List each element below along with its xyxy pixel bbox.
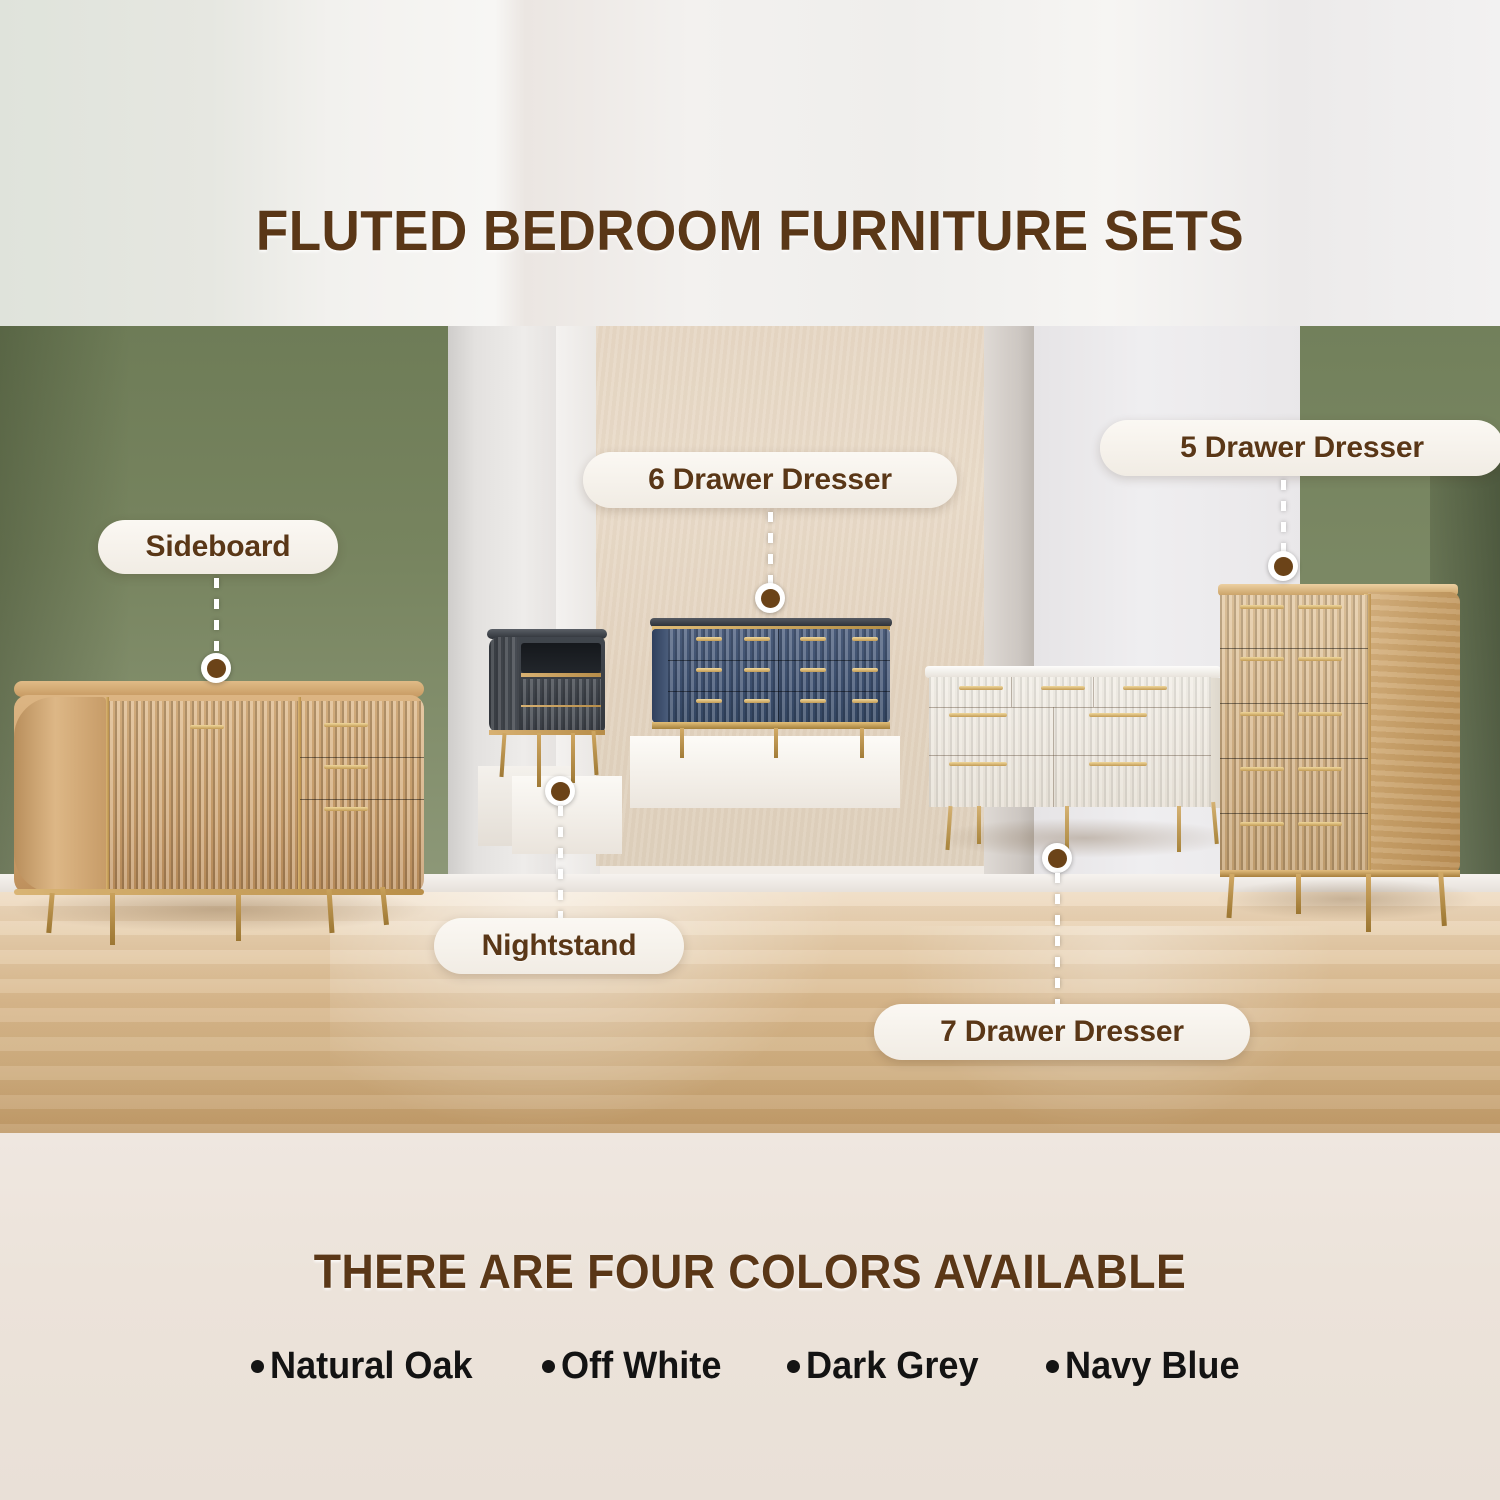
nightstand-leg-2 — [537, 733, 541, 787]
tallchest-seam-3 — [1220, 758, 1368, 759]
nightstand-drawer-1 — [521, 679, 601, 705]
callout-pill-sideboard[interactable]: Sideboard — [98, 520, 338, 574]
tallchest-handle-3a — [1240, 712, 1284, 716]
navy-handle-5 — [696, 668, 722, 672]
sideboard-body — [14, 695, 424, 895]
tallchest-handle-4b — [1298, 767, 1342, 771]
sideboard-curved-door — [14, 697, 106, 893]
sideboard-handle-2 — [324, 765, 368, 769]
sideboard-leg-2 — [110, 893, 115, 945]
furniture-five-drawer-chest — [1218, 584, 1468, 914]
color-option-navy-blue: Navy Blue — [1046, 1345, 1249, 1388]
header-band: FLUTED BEDROOM FURNITURE SETS — [0, 0, 1500, 326]
nightstand-side-panel — [489, 637, 519, 733]
offwhite-seam-v3 — [1053, 707, 1054, 807]
offwhite-handle-4 — [949, 713, 1007, 717]
navy-flute-texture — [668, 629, 890, 723]
offwhite-flute-texture — [929, 677, 1211, 807]
nightstand-drawer-2 — [521, 707, 601, 731]
footer-title: THERE ARE FOUR COLORS AVAILABLE — [53, 1245, 1448, 1300]
tallchest-leg-2 — [1296, 874, 1301, 914]
navy-leg-3 — [860, 728, 864, 758]
navy-handle-4 — [852, 637, 878, 641]
tallchest-handle-5b — [1298, 822, 1342, 826]
sideboard-divider-1 — [106, 697, 109, 893]
nightstand-leg-1 — [499, 733, 506, 777]
color-option-label: Off White — [561, 1345, 721, 1388]
sideboard-leg-3 — [236, 893, 241, 941]
tallchest-base-trim — [1220, 870, 1460, 877]
nightstand-open-shelf — [521, 643, 601, 673]
sideboard-drawer-seam-1 — [300, 757, 424, 758]
color-option-dark-grey: Dark Grey — [787, 1345, 988, 1388]
offwhite-handle-3 — [1123, 686, 1167, 690]
bullet-icon — [542, 1360, 555, 1373]
navy-handle-8 — [852, 668, 878, 672]
tallchest-handle-4a — [1240, 767, 1284, 771]
offwhite-seam-v2 — [1093, 677, 1094, 707]
navy-handle-9 — [696, 699, 722, 703]
product-infographic: FLUTED BEDROOM FURNITURE SETS — [0, 0, 1500, 1500]
sideboard-handle-3 — [324, 807, 368, 811]
color-options-list: Natural Oak Off White Dark Grey Navy Blu… — [0, 1345, 1500, 1388]
color-option-label: Dark Grey — [806, 1345, 979, 1388]
furniture-seven-drawer-dresser — [925, 666, 1225, 851]
offwhite-handle-5 — [1089, 713, 1147, 717]
color-option-label: Natural Oak — [270, 1345, 473, 1388]
sideboard-handle-1 — [324, 723, 368, 727]
tallchest-seam-1 — [1220, 648, 1368, 649]
callout-label-seven-drawer: 7 Drawer Dresser — [940, 1015, 1184, 1049]
callout-pill-seven-drawer[interactable]: 7 Drawer Dresser — [874, 1004, 1250, 1060]
callout-line-five-drawer — [1281, 480, 1286, 552]
navy-handle-11 — [800, 699, 826, 703]
tallchest-handle-2a — [1240, 657, 1284, 661]
callout-dot-sideboard[interactable] — [201, 653, 231, 683]
tallchest-side-panel — [1368, 592, 1460, 874]
tallchest-handle-5a — [1240, 822, 1284, 826]
offwhite-leg-4 — [1177, 806, 1181, 852]
callout-dot-seven-drawer[interactable] — [1042, 843, 1072, 873]
offwhite-seam-v1 — [1011, 677, 1012, 707]
sideboard-door-handle — [190, 725, 224, 729]
tallchest-handle-1b — [1298, 605, 1342, 609]
sideboard-divider-2 — [298, 697, 301, 893]
callout-label-sideboard: Sideboard — [146, 530, 291, 564]
callout-line-seven-drawer — [1055, 873, 1060, 1004]
navy-handle-12 — [852, 699, 878, 703]
navy-seam-h2 — [668, 691, 890, 692]
callout-line-sideboard — [214, 578, 219, 658]
callout-label-nightstand: Nightstand — [482, 929, 637, 963]
callout-pill-six-drawer[interactable]: 6 Drawer Dresser — [583, 452, 957, 508]
bullet-icon — [1046, 1360, 1059, 1373]
bullet-icon — [787, 1360, 800, 1373]
navy-dresser-base-trim — [652, 722, 890, 729]
sideboard-door-left — [108, 701, 298, 889]
navy-handle-10 — [744, 699, 770, 703]
navy-handle-1 — [696, 637, 722, 641]
sideboard-door-right — [300, 701, 424, 889]
tallchest-leg-1 — [1226, 874, 1234, 918]
page-title: FLUTED BEDROOM FURNITURE SETS — [53, 198, 1448, 264]
tallchest-handle-1a — [1240, 605, 1284, 609]
sideboard-base-trim — [14, 889, 424, 895]
offwhite-handle-2 — [1041, 686, 1085, 690]
navy-seam-v — [778, 629, 779, 723]
tallchest-handle-2b — [1298, 657, 1342, 661]
bullet-icon — [251, 1360, 264, 1373]
tallchest-seam-2 — [1220, 703, 1368, 704]
sideboard-drawer-seam-2 — [300, 799, 424, 800]
navy-handle-2 — [744, 637, 770, 641]
navy-dresser-body — [652, 629, 890, 723]
navy-seam-h1 — [668, 660, 890, 661]
offwhite-handle-7 — [1089, 762, 1147, 766]
nightstand-shelf-trim — [521, 673, 601, 677]
tallchest-leg-3 — [1366, 874, 1371, 932]
offwhite-seam-h2 — [929, 755, 1211, 756]
offwhite-handle-6 — [949, 762, 1007, 766]
callout-line-nightstand — [558, 806, 563, 918]
tallchest-handle-3b — [1298, 712, 1342, 716]
offwhite-handle-1 — [959, 686, 1003, 690]
callout-dot-six-drawer[interactable] — [755, 583, 785, 613]
callout-pill-nightstand[interactable]: Nightstand — [434, 918, 684, 974]
offwhite-body — [929, 677, 1211, 807]
tallchest-front — [1220, 595, 1368, 873]
navy-handle-3 — [800, 637, 826, 641]
furniture-six-drawer-dresser — [650, 618, 892, 748]
tallchest-flute-texture — [1220, 595, 1368, 873]
furniture-nightstand — [487, 629, 607, 779]
callout-pill-five-drawer[interactable]: 5 Drawer Dresser — [1100, 420, 1500, 476]
color-option-off-white: Off White — [542, 1345, 730, 1388]
color-option-natural-oak: Natural Oak — [251, 1345, 483, 1388]
callout-label-six-drawer: 6 Drawer Dresser — [648, 463, 892, 497]
callout-label-five-drawer: 5 Drawer Dresser — [1180, 431, 1424, 465]
callout-dot-five-drawer[interactable] — [1268, 551, 1298, 581]
nightstand-body — [489, 637, 605, 733]
offwhite-leg-1 — [945, 806, 952, 850]
callout-line-six-drawer — [768, 512, 773, 584]
nightstand-leg-4 — [591, 731, 598, 775]
offwhite-leg-2 — [977, 806, 981, 844]
color-option-label: Navy Blue — [1065, 1345, 1240, 1388]
tallchest-seam-4 — [1220, 813, 1368, 814]
furniture-sideboard — [6, 681, 426, 911]
navy-leg-2 — [774, 728, 778, 758]
nightstand-leg-3 — [571, 733, 575, 783]
offwhite-seam-h1 — [929, 707, 1211, 708]
navy-handle-7 — [800, 668, 826, 672]
navy-leg-1 — [680, 728, 684, 758]
footer-band — [0, 1133, 1500, 1500]
navy-handle-6 — [744, 668, 770, 672]
callout-dot-nightstand[interactable] — [545, 776, 575, 806]
navy-dresser-side — [652, 629, 668, 723]
